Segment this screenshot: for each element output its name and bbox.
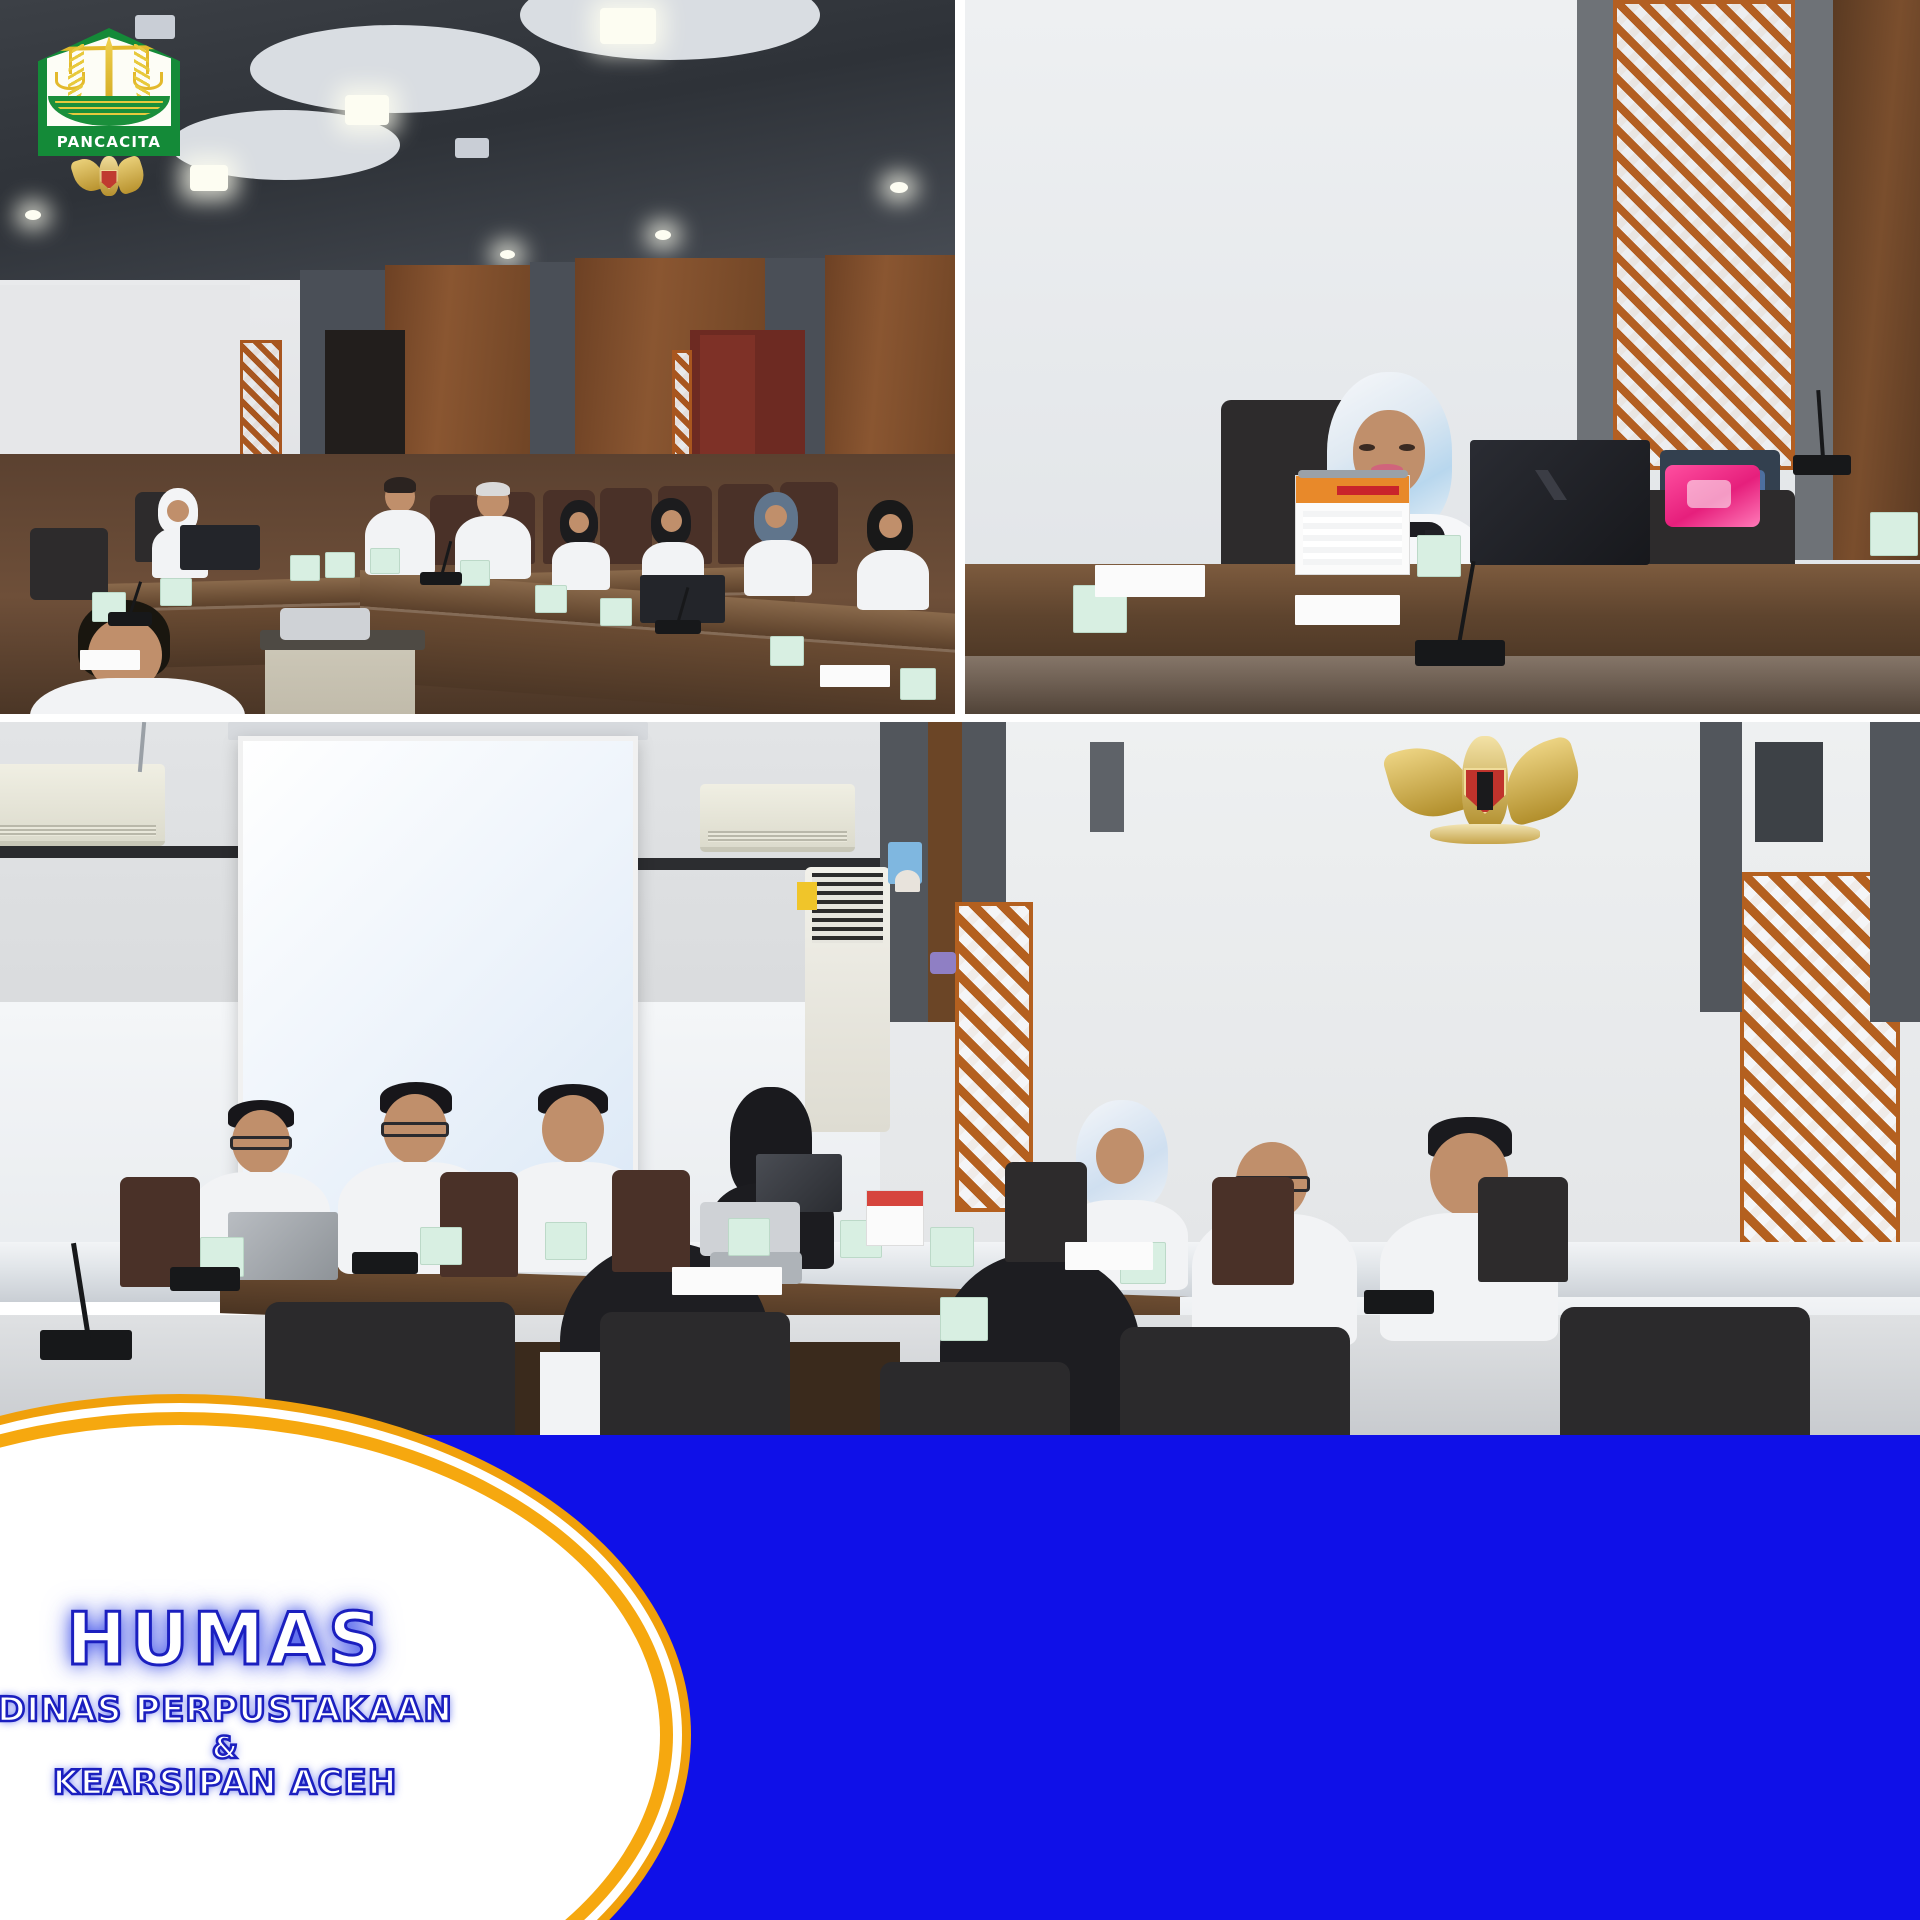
- pancacita-emblem: PANCACITA: [38, 28, 180, 156]
- pancacita-label: PANCACITA: [38, 133, 180, 151]
- photo-collage: [0, 0, 1920, 1435]
- humas-subtitle-line2: KEARSIPAN ACEH: [0, 1766, 660, 1802]
- pancacita-shield: PANCACITA: [38, 28, 180, 156]
- humas-title: HUMAS: [0, 1603, 660, 1675]
- humas-subtitle-line1: DINAS PERPUSTAKAAN: [0, 1693, 660, 1729]
- garuda-pancasila-icon: [74, 154, 144, 206]
- humas-ampersand: &: [0, 1733, 660, 1765]
- poster-root: DINAS PERPUSTAKAAN DAN KEARSIPAN ACEH ME…: [0, 0, 1920, 1920]
- humas-logo: HUMAS DINAS PERPUSTAKAAN & KEARSIPAN ACE…: [0, 1425, 660, 1920]
- photo-presenter-portrait: [965, 0, 1920, 714]
- photo-meeting-room-projector: [0, 722, 1920, 1435]
- humas-text-block: HUMAS DINAS PERPUSTAKAAN & KEARSIPAN ACE…: [0, 1603, 660, 1802]
